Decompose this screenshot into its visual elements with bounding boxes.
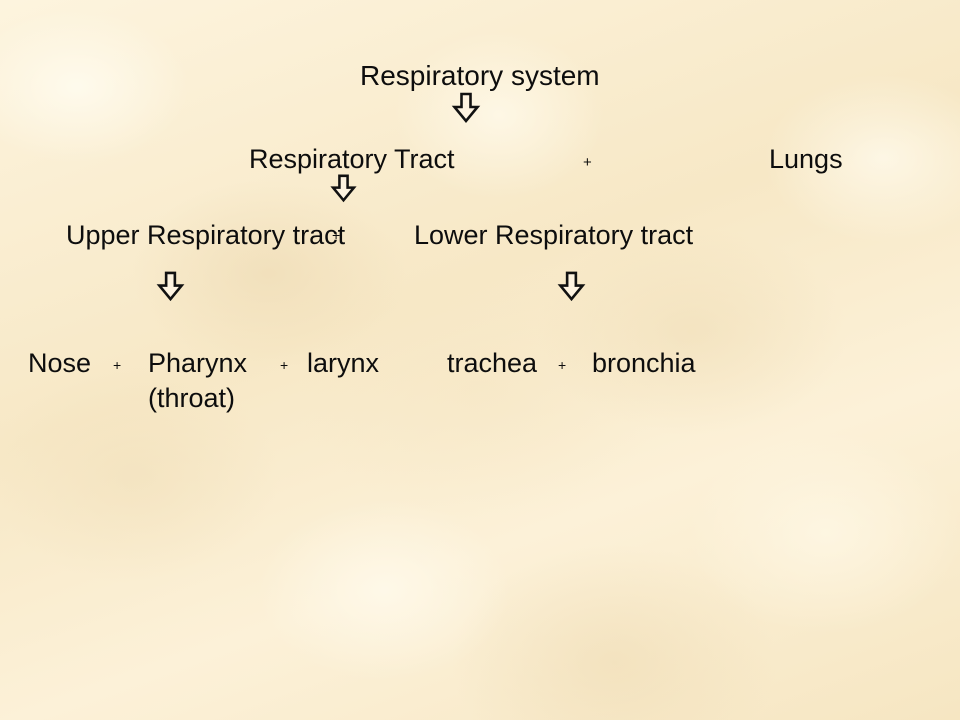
node-upper-respiratory-tract: Upper Respiratory tract xyxy=(66,222,345,249)
node-respiratory-system: Respiratory system xyxy=(360,62,600,90)
down-block-arrow-to-lower-children xyxy=(556,271,587,302)
node-pharynx: Pharynx xyxy=(148,350,247,377)
down-block-arrow-from-tract xyxy=(329,174,358,203)
plus-sign-nose-pharynx: + xyxy=(113,358,121,372)
plus-sign-tract-lungs: + xyxy=(583,155,592,170)
plus-sign-overlapping-upper-tract: + xyxy=(332,228,340,242)
plus-sign-pharynx-larynx: + xyxy=(280,358,288,372)
node-larynx: larynx xyxy=(307,350,379,377)
node-lower-respiratory-tract: Lower Respiratory tract xyxy=(414,222,693,249)
slide-canvas: Respiratory system Respiratory Tract + L… xyxy=(0,0,960,720)
down-block-arrow-from-title xyxy=(450,92,482,124)
node-bronchia: bronchia xyxy=(592,350,696,377)
node-pharynx-alternate-name: (throat) xyxy=(148,385,235,412)
plus-sign-trachea-bronchia: + xyxy=(558,358,566,372)
node-nose: Nose xyxy=(28,350,91,377)
node-lungs: Lungs xyxy=(769,146,843,173)
node-trachea: trachea xyxy=(447,350,537,377)
down-block-arrow-to-upper-children xyxy=(155,271,186,302)
node-respiratory-tract: Respiratory Tract xyxy=(249,146,455,173)
